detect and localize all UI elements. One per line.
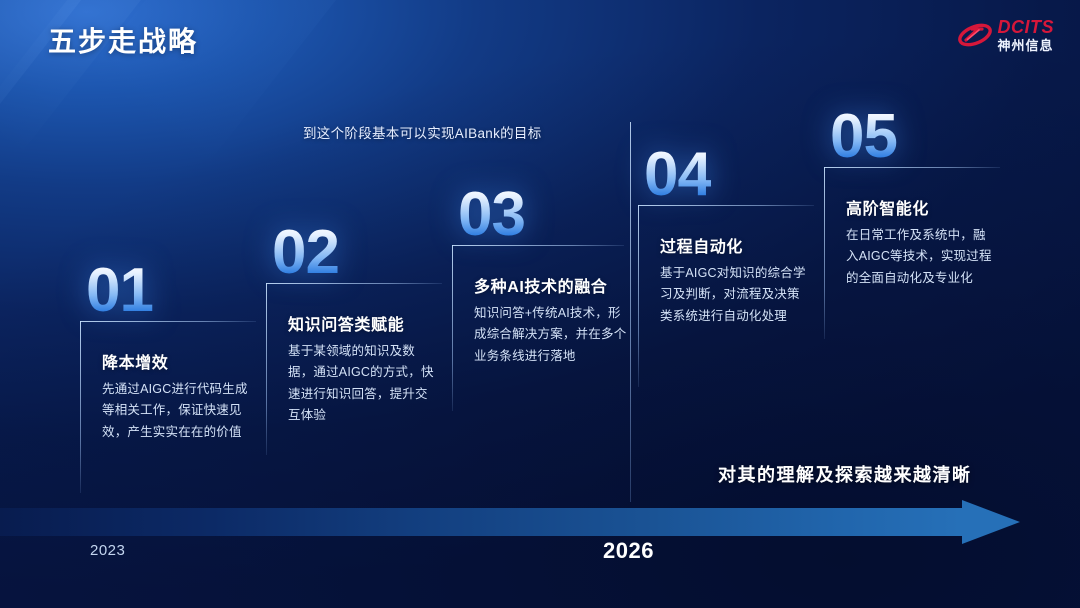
step-bracket-03: 多种AI技术的融合 知识问答+传统AI技术，形成综合解决方案，并在多个业务条线进… <box>452 245 638 425</box>
step-bracket-04: 过程自动化 基于AIGC对知识的综合学习及判断，对流程及决策类系统进行自动化处理 <box>638 205 824 395</box>
page-title: 五步走战略 <box>48 20 198 60</box>
step-card-05[interactable]: 05 高阶智能化 在日常工作及系统中，融入AIGC等技术，实现过程的全面自动化及… <box>824 108 1010 347</box>
step-body-04: 基于AIGC对知识的综合学习及判断，对流程及决策类系统进行自动化处理 <box>660 263 812 328</box>
timeline-tagline: 对其的理解及探索越来越清晰 <box>718 461 972 487</box>
step-number-03: 03 <box>458 186 525 245</box>
step-body-05: 在日常工作及系统中，融入AIGC等技术，实现过程的全面自动化及专业化 <box>846 225 998 290</box>
timeline-year-end: 2026 <box>603 538 654 564</box>
step-bracket-05: 高阶智能化 在日常工作及系统中，融入AIGC等技术，实现过程的全面自动化及专业化 <box>824 167 1010 347</box>
step-card-03[interactable]: 03 多种AI技术的融合 知识问答+传统AI技术，形成综合解决方案，并在多个业务… <box>452 186 638 425</box>
timeline-year-start: 2023 <box>90 542 125 559</box>
stage-annotation: 到这个阶段基本可以实现AIBank的目标 <box>303 122 542 142</box>
step-number-01: 01 <box>86 262 153 321</box>
step-heading-02: 知识问答类赋能 <box>288 311 404 335</box>
step-bracket-02: 知识问答类赋能 基于某领域的知识及数据，通过AIGC的方式，快速进行知识回答，提… <box>266 283 452 463</box>
step-card-01[interactable]: 01 降本增效 先通过AIGC进行代码生成等相关工作，保证快速见效，产生实实在在… <box>80 262 266 501</box>
step-body-03: 知识问答+传统AI技术，形成综合解决方案，并在多个业务条线进行落地 <box>474 303 629 368</box>
step-heading-01: 降本增效 <box>102 349 168 373</box>
logo-cn-label: 神州信息 <box>998 39 1055 52</box>
step-bracket-01: 降本增效 先通过AIGC进行代码生成等相关工作，保证快速见效，产生实实在在的价值 <box>80 321 266 501</box>
step-card-02[interactable]: 02 知识问答类赋能 基于某领域的知识及数据，通过AIGC的方式，快速进行知识回… <box>266 224 452 463</box>
logo-text: DCITS 神州信息 <box>998 18 1055 52</box>
timeline-arrow-bar <box>0 508 962 536</box>
step-heading-04: 过程自动化 <box>660 233 743 257</box>
step-heading-03: 多种AI技术的融合 <box>474 273 607 297</box>
logo-en-label: DCITS <box>998 18 1055 36</box>
step-number-04: 04 <box>644 146 711 205</box>
swoosh-icon <box>958 20 992 50</box>
step-card-04[interactable]: 04 过程自动化 基于AIGC对知识的综合学习及判断，对流程及决策类系统进行自动… <box>638 146 824 395</box>
step-body-02: 基于某领域的知识及数据，通过AIGC的方式，快速进行知识回答，提升交互体验 <box>288 341 440 427</box>
brand-logo: DCITS 神州信息 <box>958 18 1055 52</box>
step-number-05: 05 <box>830 108 897 167</box>
slide-root: 五步走战略 DCITS 神州信息 到这个阶段基本可以实现AIBank的目标 01… <box>0 0 1080 608</box>
step-body-01: 先通过AIGC进行代码生成等相关工作，保证快速见效，产生实实在在的价值 <box>102 379 254 444</box>
step-number-02: 02 <box>272 224 339 283</box>
step-heading-05: 高阶智能化 <box>846 195 929 219</box>
timeline-arrow-head <box>962 500 1020 544</box>
timeline-arrow <box>0 500 1080 544</box>
